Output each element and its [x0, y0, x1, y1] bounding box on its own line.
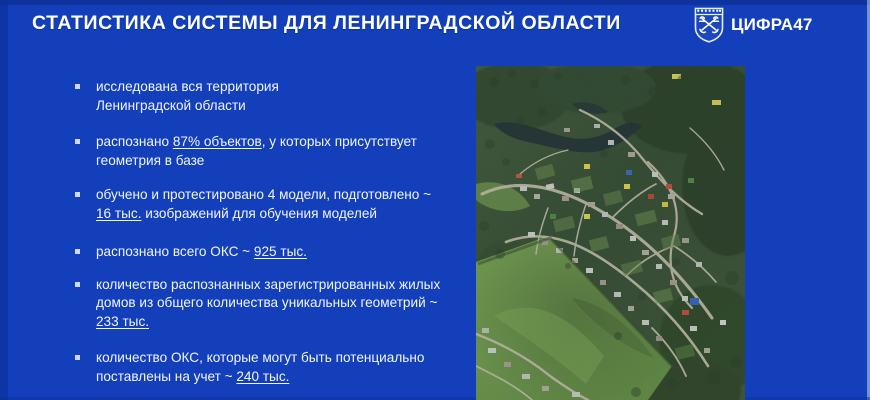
- list-item-line: исследована вся территория: [96, 79, 279, 94]
- slide-root: СТАТИСТИКА СИСТЕМЫ ДЛЯ ЛЕНИНГРАДСКОЙ ОБЛ…: [0, 0, 870, 400]
- list-item-text: обучено и протестировано 4 модели, подго…: [96, 186, 446, 223]
- list-item: исследована вся территорияЛенинградской …: [74, 78, 446, 115]
- aerial-photo-graphic: [476, 66, 745, 400]
- list-item-text: количество ОКС, которые могут быть потен…: [96, 349, 446, 386]
- statistics-bullet-list: исследована вся территорияЛенинградской …: [74, 78, 446, 386]
- square-bullet-icon: [75, 192, 80, 197]
- square-bullet-icon: [75, 139, 80, 144]
- list-item-text: количество распознанных зарегистрированн…: [96, 276, 446, 332]
- brand-lockup: ЦИФРА47: [694, 7, 813, 43]
- list-item-prefix: распознано всего ОКС ~: [96, 244, 254, 259]
- aerial-photo: [476, 66, 745, 400]
- leningrad-oblast-emblem-icon: [694, 7, 724, 43]
- list-item-text: распознано всего ОКС ~ 925 тыс.: [96, 243, 446, 262]
- list-item-prefix: обучено и протестировано 4 модели, подго…: [96, 187, 431, 202]
- slide-header: СТАТИСТИКА СИСТЕМЫ ДЛЯ ЛЕНИНГРАДСКОЙ ОБЛ…: [0, 0, 870, 50]
- square-bullet-icon: [75, 84, 80, 89]
- highlighted-metric: 16 тыс.: [96, 206, 141, 221]
- highlighted-metric: 233 тыс.: [96, 314, 149, 329]
- brand-name-label: ЦИФРА47: [731, 15, 813, 35]
- list-item: количество распознанных зарегистрированн…: [74, 276, 446, 332]
- slide-left-edge: [0, 0, 8, 400]
- list-item: обучено и протестировано 4 модели, подго…: [74, 186, 446, 223]
- highlighted-metric: 925 тыс.: [254, 244, 307, 259]
- list-item: количество ОКС, которые могут быть потен…: [74, 349, 446, 386]
- square-bullet-icon: [75, 355, 80, 360]
- list-item: распознано 87% объектов, у которых прису…: [74, 133, 446, 170]
- highlighted-metric: 87% объектов: [173, 134, 262, 149]
- square-bullet-icon: [75, 282, 80, 287]
- list-item-line: Ленинградской области: [96, 98, 246, 113]
- list-item-prefix: количество распознанных зарегистрированн…: [96, 277, 440, 311]
- list-item-text: распознано 87% объектов, у которых прису…: [96, 133, 446, 170]
- list-item-text: исследована вся территорияЛенинградской …: [96, 78, 446, 115]
- list-item-prefix: распознано: [96, 134, 173, 149]
- highlighted-metric: 240 тыс.: [236, 369, 289, 384]
- list-item: распознано всего ОКС ~ 925 тыс.: [74, 243, 446, 262]
- square-bullet-icon: [75, 249, 80, 254]
- page-title: СТАТИСТИКА СИСТЕМЫ ДЛЯ ЛЕНИНГРАДСКОЙ ОБЛ…: [32, 12, 621, 35]
- list-item-suffix: изображений для обучения моделей: [141, 206, 377, 221]
